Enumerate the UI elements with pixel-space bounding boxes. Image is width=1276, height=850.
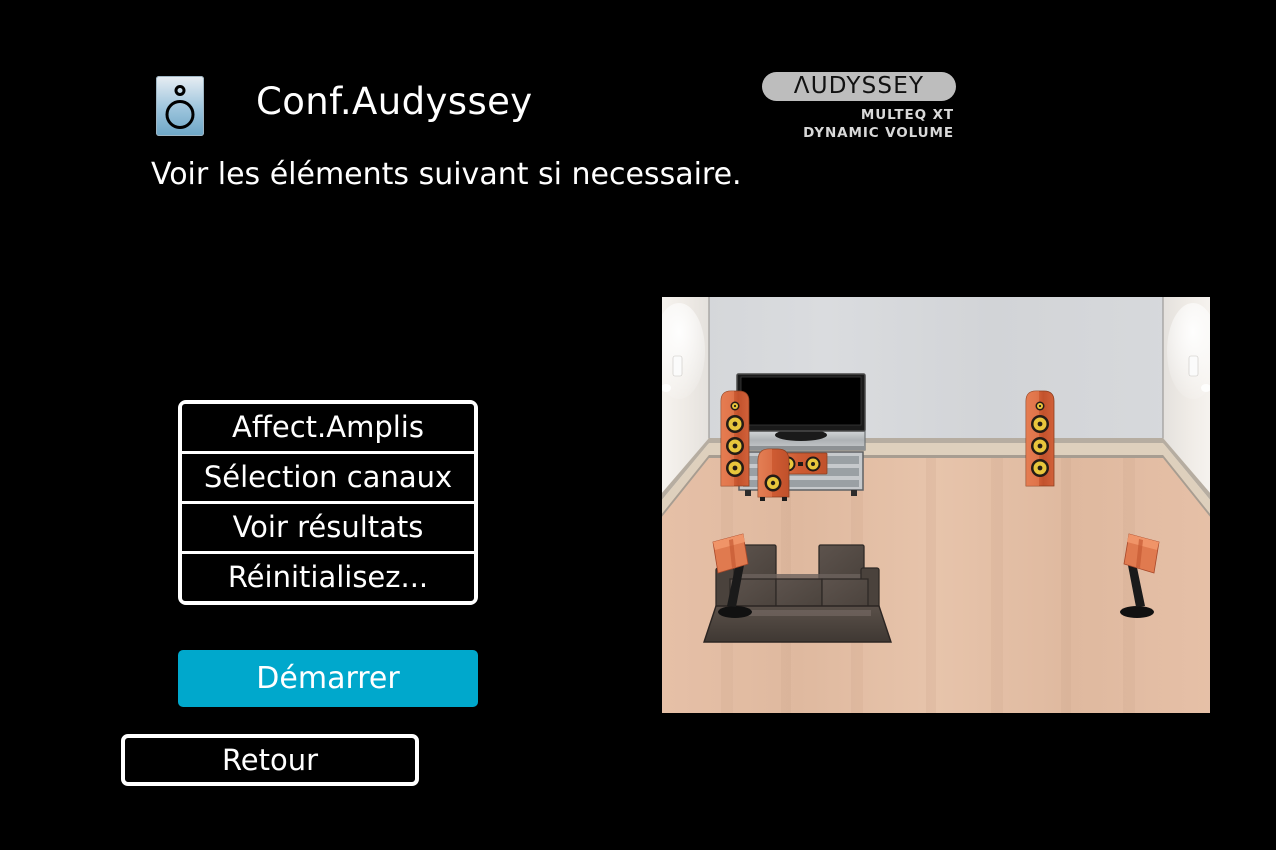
back-button[interactable]: Retour (121, 734, 419, 786)
menu-item-label: Réinitialisez... (228, 563, 428, 592)
speaker-woofer-icon (166, 100, 195, 129)
page-subtitle: Voir les éléments suivant si necessaire. (151, 158, 742, 193)
audyssey-brand-pill: ΛUDYSSEY (762, 72, 956, 101)
front-left-speaker (721, 391, 749, 486)
start-button[interactable]: Démarrer (178, 650, 478, 707)
menu-item-label: Voir résultats (233, 513, 424, 542)
television (737, 374, 865, 431)
menu-item-label: Sélection canaux (204, 463, 452, 492)
menu-item-amp-assign[interactable]: Affect.Amplis (180, 402, 476, 453)
page-title: Conf.Audyssey (256, 83, 533, 120)
speaker-tweeter-icon (175, 85, 186, 96)
audyssey-menu-list: Affect.Amplis Sélection canaux Voir résu… (178, 400, 478, 605)
menu-item-view-results[interactable]: Voir résultats (180, 502, 476, 553)
menu-item-channel-select[interactable]: Sélection canaux (180, 452, 476, 503)
audyssey-dynamic-volume-label: DYNAMIC VOLUME (762, 125, 956, 141)
subwoofer (758, 449, 789, 501)
audyssey-brand-text: ΛUDYSSEY (794, 75, 924, 98)
audyssey-setup-screen: Conf.Audyssey ΛUDYSSEY MULTEQ XT DYNAMIC… (0, 0, 1276, 850)
speaker-layout-diagram (661, 296, 1211, 714)
audyssey-multeq-label: MULTEQ XT (762, 107, 956, 123)
audyssey-logo: ΛUDYSSEY MULTEQ XT DYNAMIC VOLUME (762, 72, 956, 141)
menu-item-reset[interactable]: Réinitialisez... (180, 552, 476, 603)
front-right-speaker (1026, 391, 1054, 486)
speaker-icon (156, 76, 204, 136)
menu-item-label: Affect.Amplis (232, 413, 424, 442)
